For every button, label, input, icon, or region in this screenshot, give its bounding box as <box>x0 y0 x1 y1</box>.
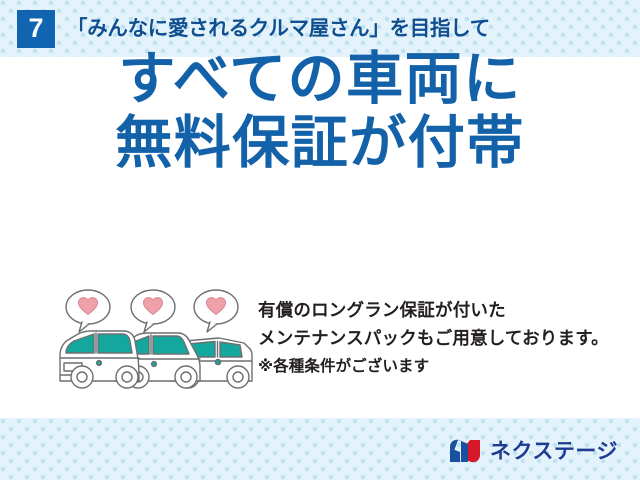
brand-name: ネクステージ <box>490 441 618 462</box>
body-copy-line-1: 有償のロングラン保証が付いた <box>258 297 638 325</box>
heart-bubble-1 <box>66 290 110 332</box>
warranty-promo-banner: 7 「みんなに愛されるクルマ屋さん」を目指して すべての車両に 無料保証が付帯 <box>0 0 640 480</box>
headline-line-1: すべての車両に <box>0 47 640 111</box>
step-number-badge: 7 <box>17 10 55 48</box>
heart-bubble-3 <box>194 290 238 332</box>
three-cars-illustration <box>52 285 257 395</box>
car-kei-wagon <box>60 331 139 388</box>
heart-bubble-2 <box>131 290 175 332</box>
promo-row: 有償のロングラン保証が付いた メンテナンスパックもご用意しております。 ※各種条… <box>0 285 640 400</box>
header-title: 「みんなに愛されるクルマ屋さん」を目指して <box>67 18 490 39</box>
body-copy-line-2: メンテナンスパックもご用意しております。 <box>258 325 638 353</box>
body-copy: 有償のロングラン保証が付いた メンテナンスパックもご用意しております。 ※各種条… <box>258 297 638 379</box>
headline-line-2: 無料保証が付帯 <box>0 111 640 175</box>
body-copy-note: ※各種条件がございます <box>258 354 638 379</box>
headline: すべての車両に 無料保証が付帯 <box>0 47 640 176</box>
brand-logo: ネクステージ <box>448 436 618 466</box>
n-logo-icon <box>448 438 482 464</box>
